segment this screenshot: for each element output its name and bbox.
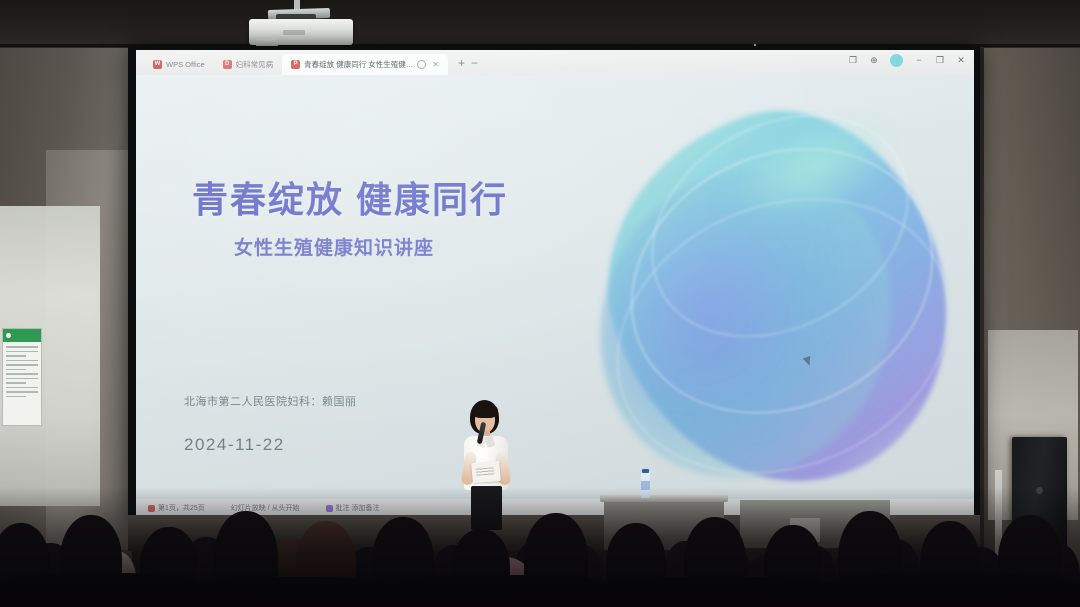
slide-date: 2024-11-22 bbox=[184, 435, 285, 455]
projection-screen-surface: W WPS Office D 妇科常见病 P 青春绽放 健康同行 女性生殖健… … bbox=[136, 50, 974, 517]
ceiling bbox=[0, 0, 1080, 48]
minimize-icon[interactable]: − bbox=[914, 56, 924, 65]
pa-speaker bbox=[1012, 437, 1067, 562]
projector-brand-label bbox=[283, 30, 305, 35]
wall-poster-body bbox=[3, 342, 41, 404]
slide-subtitle: 女性生殖健康知识讲座 bbox=[234, 233, 434, 260]
tab-bar: W WPS Office D 妇科常见病 P 青春绽放 健康同行 女性生殖健… … bbox=[136, 50, 974, 75]
tab-label: WPS Office bbox=[166, 60, 205, 69]
wall-poster bbox=[2, 328, 42, 426]
new-tab-button[interactable]: + bbox=[458, 57, 465, 69]
speaker-stand bbox=[995, 470, 1002, 562]
wall-poster-header bbox=[3, 329, 41, 342]
tab-presentation[interactable]: P 青春绽放 健康同行 女性生殖健… ✕ bbox=[282, 54, 448, 75]
presenter-skirt bbox=[471, 486, 502, 530]
water-bottle-label bbox=[641, 481, 650, 490]
slide-title: 青春绽放 健康同行 bbox=[192, 171, 508, 223]
wps-doc-icon: D bbox=[223, 60, 232, 69]
wall-poster-badge-icon bbox=[6, 333, 11, 338]
user-avatar[interactable] bbox=[890, 54, 903, 67]
wps-logo-icon: W bbox=[153, 60, 162, 69]
speaker-driver-icon bbox=[1036, 487, 1043, 494]
presenter bbox=[452, 400, 522, 530]
restore-layout-icon[interactable]: ❐ bbox=[848, 56, 858, 65]
tab-label: 青春绽放 健康同行 女性生殖健… bbox=[304, 59, 413, 70]
podium-top bbox=[600, 495, 728, 502]
tab-list-button[interactable]: − bbox=[471, 57, 478, 69]
tab-wps-office[interactable]: W WPS Office bbox=[144, 54, 214, 75]
status-page-indicator[interactable]: 第1页，共25页 bbox=[148, 503, 205, 513]
status-label: 批注 添加备注 bbox=[336, 503, 380, 513]
cloud-sync-icon[interactable]: ⊕ bbox=[869, 56, 879, 65]
lecture-hall-scene: W WPS Office D 妇科常见病 P 青春绽放 健康同行 女性生殖健… … bbox=[0, 0, 1080, 607]
side-desk-panel bbox=[790, 518, 820, 542]
tab-status-dot-icon bbox=[417, 60, 426, 69]
tab-label: 妇科常见病 bbox=[236, 59, 274, 70]
status-label: 第1页，共25页 bbox=[158, 503, 205, 513]
page-chip-icon bbox=[148, 505, 155, 512]
podium bbox=[604, 498, 724, 550]
tab-close-icon[interactable]: ✕ bbox=[432, 60, 439, 69]
presenter-hair-front bbox=[472, 403, 498, 418]
tab-document[interactable]: D 妇科常见病 bbox=[214, 54, 283, 75]
notes-chip-icon bbox=[326, 505, 333, 512]
slide-presenter-credit: 北海市第二人民医院妇科：赖国丽 bbox=[184, 393, 357, 409]
close-icon[interactable]: ✕ bbox=[956, 56, 966, 65]
status-label: 幻灯片放映 / 从头开始 bbox=[231, 503, 300, 513]
status-notes-control[interactable]: 批注 添加备注 bbox=[326, 503, 380, 513]
wps-slide-icon: P bbox=[291, 60, 300, 69]
wps-office-window: W WPS Office D 妇科常见病 P 青春绽放 健康同行 女性生殖健… … bbox=[136, 50, 974, 517]
slide-decorative-artwork bbox=[574, 85, 974, 499]
slide-canvas[interactable]: 青春绽放 健康同行 女性生殖健康知识讲座 北海市第二人民医院妇科：赖国丽 202… bbox=[136, 75, 974, 499]
window-controls: ❐ ⊕ − ❐ ✕ bbox=[848, 54, 966, 67]
maximize-icon[interactable]: ❐ bbox=[935, 56, 945, 65]
status-slideshow-control[interactable]: 幻灯片放映 / 从头开始 bbox=[231, 503, 300, 513]
water-bottle-cap bbox=[642, 469, 649, 473]
